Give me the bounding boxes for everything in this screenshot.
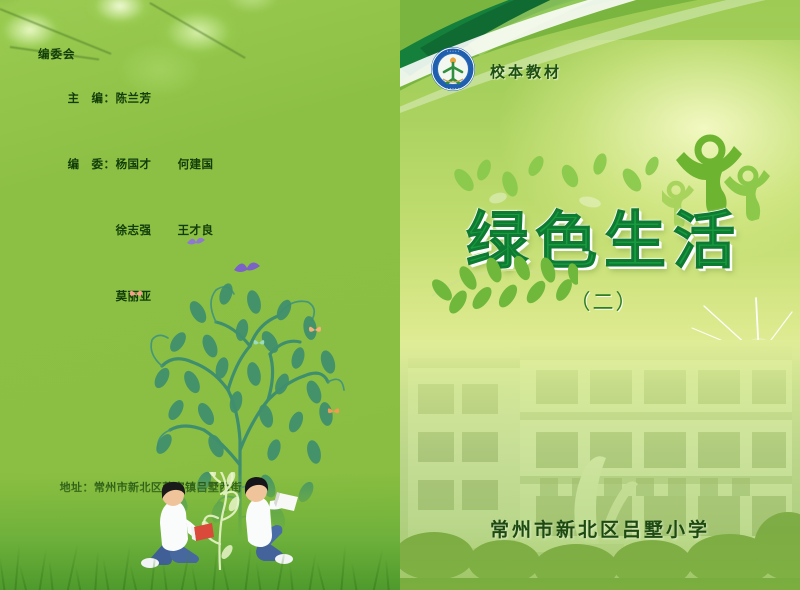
chief-editor-name: 陈兰芳 [116, 88, 178, 110]
committee-member-name: 徐志强 [116, 220, 178, 242]
bird-icon [186, 234, 206, 254]
butterfly-icon [128, 286, 144, 307]
olive-branch-decoration [428, 240, 578, 320]
svg-text:• • • • • • •: • • • • • • • [444, 87, 462, 91]
badge-label: 校本教材 [490, 61, 562, 82]
committee-member-name: 何建国 [178, 154, 240, 176]
svg-text:• • • • •: • • • • • [447, 49, 460, 53]
textbook-badge: • • • • • • • • • • • • 校本教材 [430, 46, 562, 97]
committee-member-name: 杨国才 [116, 154, 178, 176]
bird-icon [232, 256, 262, 283]
butterfly-icon [307, 322, 323, 343]
grass-band [0, 472, 400, 590]
school-name: 常州市新北区吕墅小学 [400, 515, 800, 542]
front-cover: • • • • • • • • • • • • 校本教材 [400, 0, 800, 590]
committee-label-blank [68, 291, 116, 303]
committee-row-chief: 主 编：陈兰芳 [38, 66, 298, 132]
butterfly-icon [252, 336, 266, 355]
committee-label-blank [68, 225, 116, 237]
school-building-photo [400, 340, 800, 590]
committee-row-1: 编 委：杨国才何建国 [38, 132, 298, 198]
committee-label: 编 委： [68, 159, 116, 171]
back-cover: 编委会 主 编：陈兰芳 编 委：杨国才何建国 徐志强王才良 莫丽亚 [0, 0, 400, 590]
child-reading-right [214, 475, 304, 576]
chief-editor-label: 主 编： [68, 93, 116, 105]
committee-heading: 编委会 [38, 44, 298, 66]
book-cover: 编委会 主 编：陈兰芳 编 委：杨国才何建国 徐志强王才良 莫丽亚 [0, 0, 800, 590]
photo-green-tint [400, 340, 800, 590]
butterfly-icon [326, 404, 341, 424]
child-reading-left [138, 479, 218, 576]
school-emblem-icon: • • • • • • • • • • • • [430, 46, 476, 97]
